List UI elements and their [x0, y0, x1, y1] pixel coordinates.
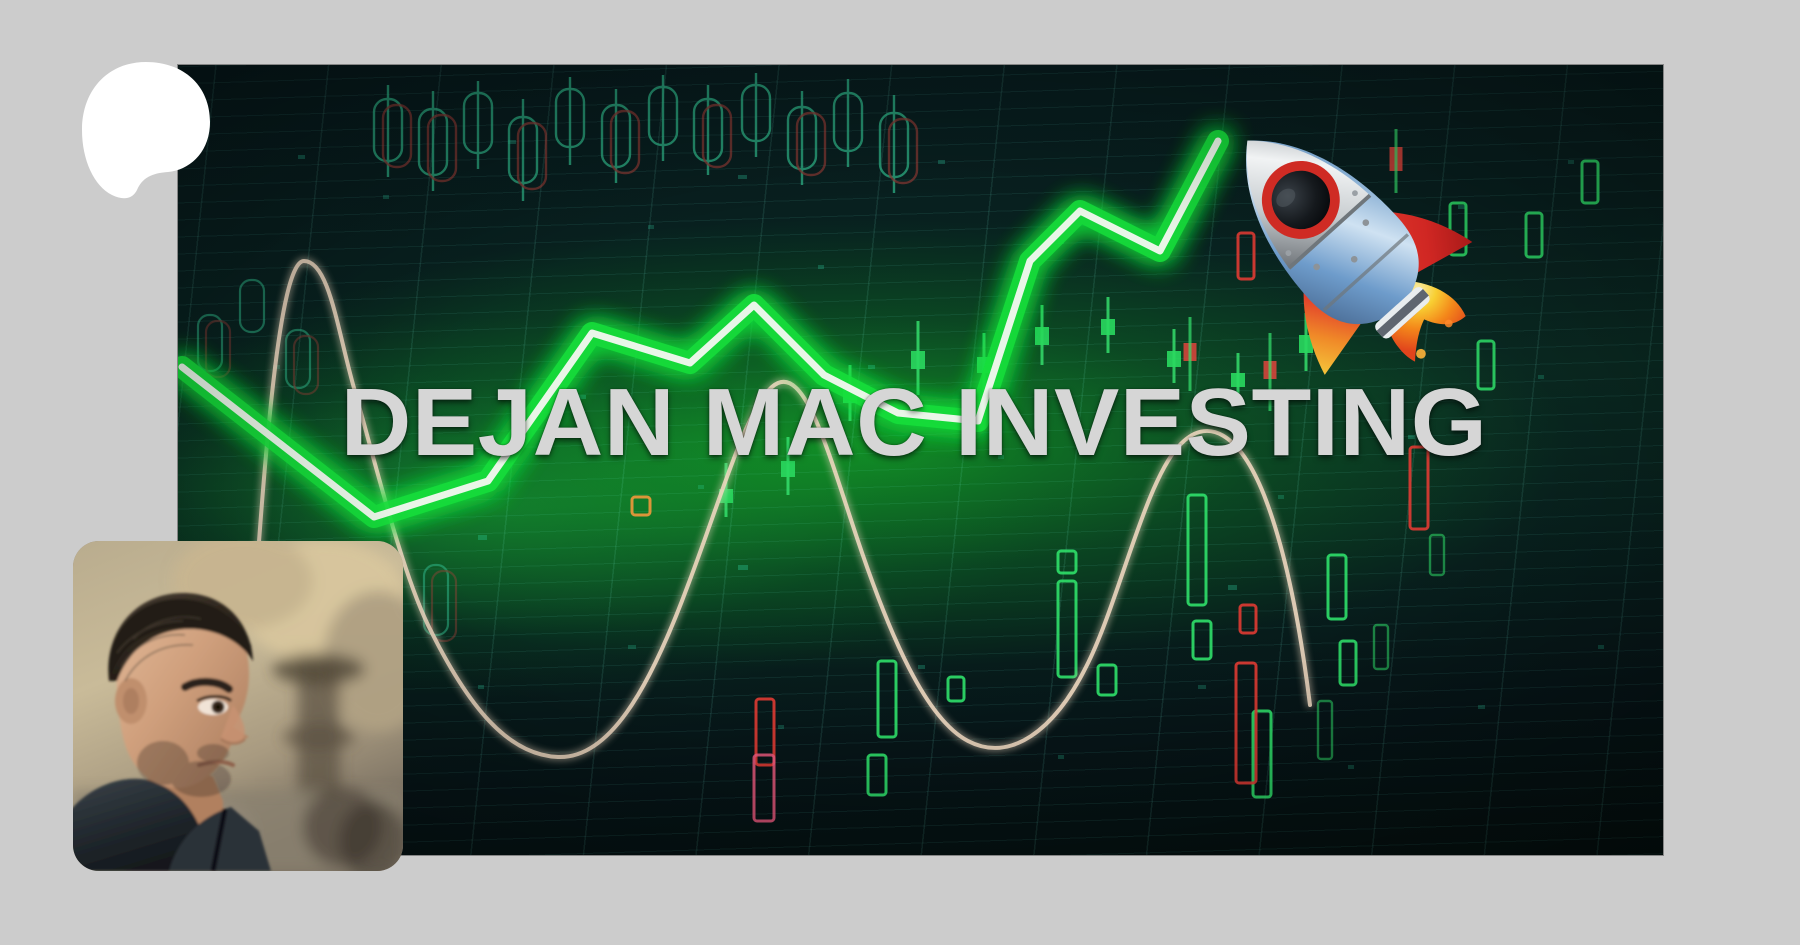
candlestick-cluster-upper	[374, 73, 917, 201]
page-root: DEJAN MAC INVESTING	[0, 0, 1800, 945]
avatar[interactable]	[73, 541, 403, 871]
avatar-photo	[73, 541, 403, 871]
patreon-logo-icon[interactable]	[80, 60, 212, 200]
rocket-icon	[1190, 93, 1482, 385]
page-title: DEJAN MAC INVESTING	[178, 375, 1663, 471]
